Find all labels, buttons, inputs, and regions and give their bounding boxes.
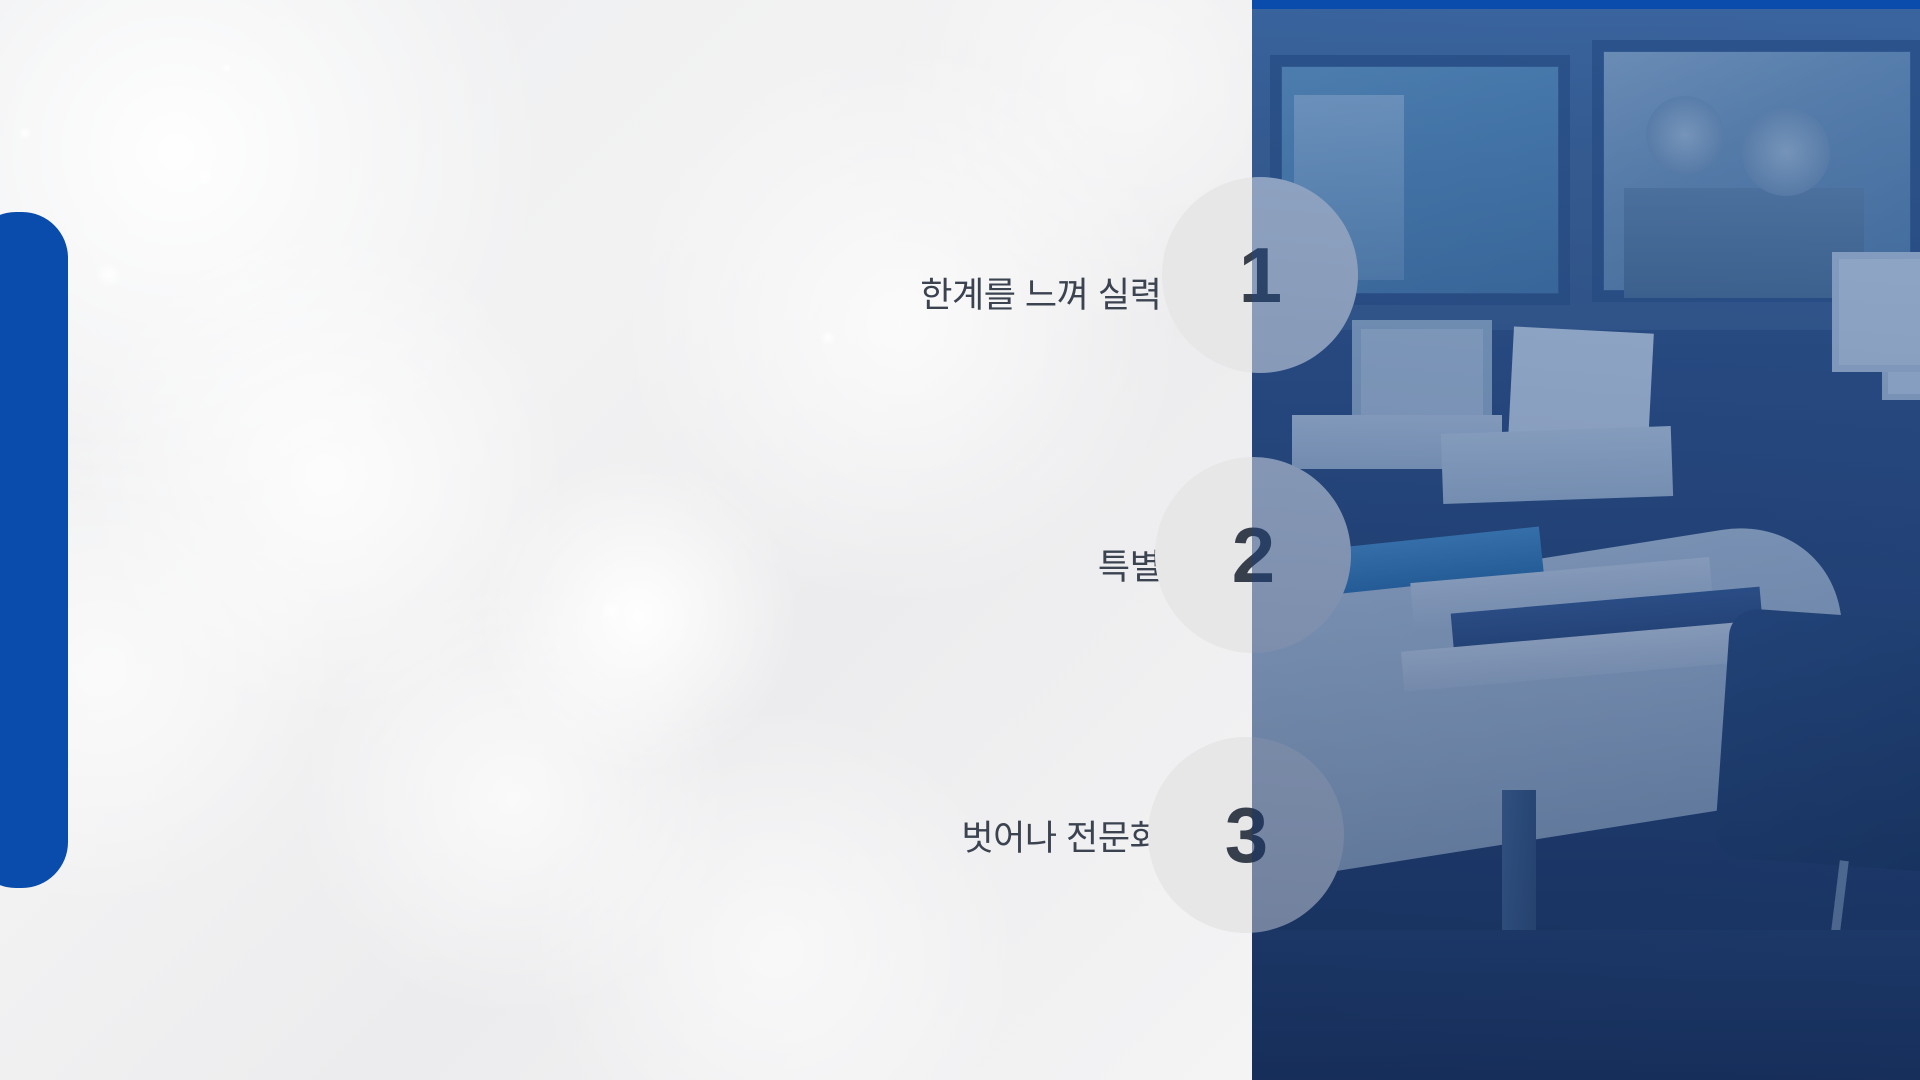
- office-photo: [1252, 0, 1920, 1080]
- bokeh-dot: [96, 262, 122, 288]
- bokeh-dot: [222, 63, 232, 73]
- bokeh-dot: [196, 168, 214, 186]
- slide-root: 영어를 공부해 본 적이 없거나 한계를 느껴 실력 증진이 더뎌진 학생도 합…: [0, 0, 1920, 1080]
- bokeh-dot: [820, 330, 836, 346]
- accent-tab: [0, 212, 68, 888]
- photo-blue-tint-overlay: [1252, 0, 1920, 1080]
- bokeh-dot: [600, 600, 622, 622]
- photo-top-accent-bar: [1252, 0, 1920, 9]
- bokeh-dot: [18, 126, 32, 140]
